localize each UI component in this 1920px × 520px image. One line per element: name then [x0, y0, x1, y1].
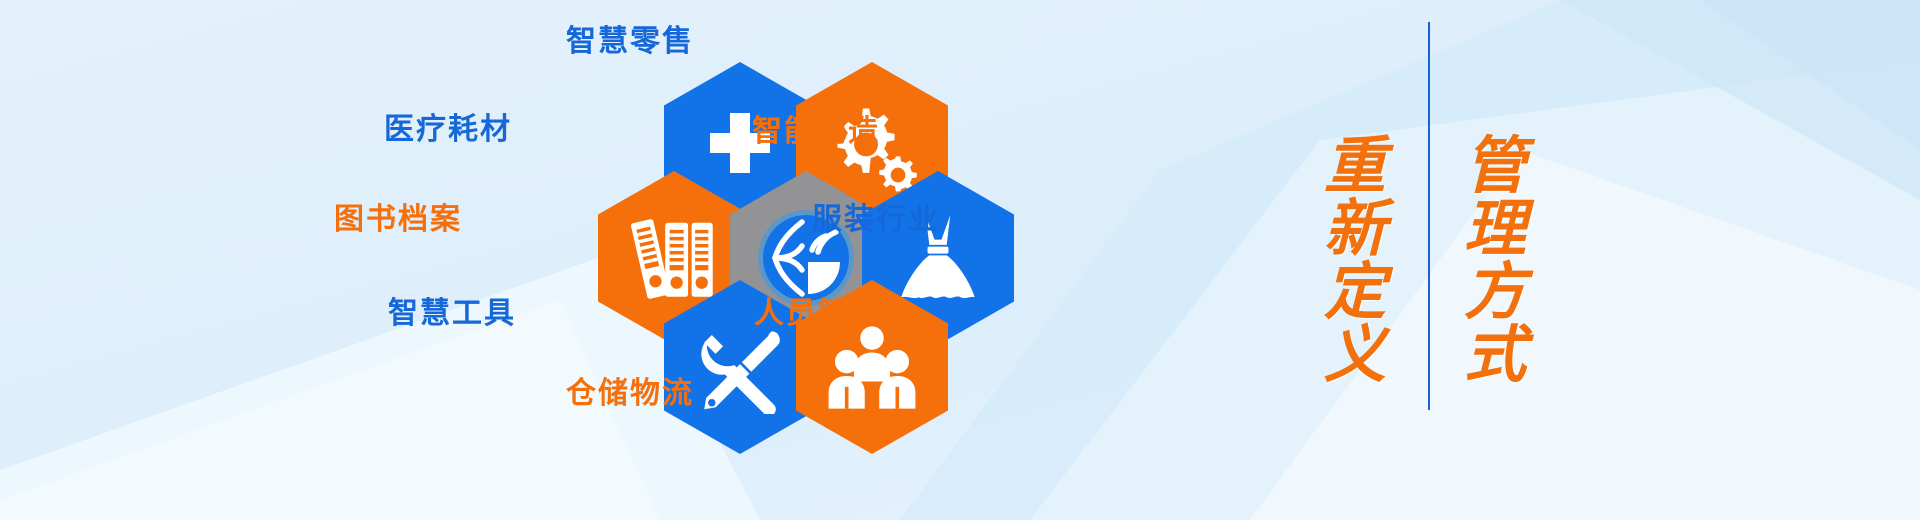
label-personnel-mgmt: 人员管理 [754, 288, 882, 332]
label-medical-supplies: 医疗耗材 [384, 104, 512, 148]
label-apparel-industry: 服装行业 [812, 194, 940, 238]
label-smart-manufacturing: 智能制造 [752, 106, 880, 150]
slogan-column-left: 重 新 定 义 [1300, 0, 1410, 520]
slogan-char-1: 重 [1324, 134, 1386, 197]
slogan-char-5: 管 [1464, 134, 1526, 197]
binders-icon [630, 212, 718, 304]
slogan-char-7: 方 [1464, 260, 1526, 323]
slogan-char-3: 定 [1324, 260, 1386, 323]
label-smart-tools: 智慧工具 [388, 288, 516, 332]
label-book-archives: 图书档案 [334, 194, 462, 238]
label-warehouse-logistics: 仓储物流 [566, 368, 694, 412]
people-group-icon [825, 323, 919, 411]
slogan-char-6: 理 [1464, 197, 1526, 260]
slogan-divider [1428, 22, 1430, 410]
label-smart-retail: 智慧零售 [566, 16, 694, 60]
slogan-char-4: 义 [1324, 323, 1386, 386]
wrench-screwdriver-icon [693, 320, 787, 414]
slogan-column-right: 管 理 方 式 [1440, 0, 1550, 520]
banner-root: 智慧零售 医疗耗材 智能制造 图书档案 服装行业 智慧工具 人员管理 仓储物流 … [0, 0, 1920, 520]
slogan-char-8: 式 [1464, 323, 1526, 386]
slogan-char-2: 新 [1324, 197, 1386, 260]
slogan-block: 重 新 定 义 管 理 方 式 [1280, 0, 1680, 520]
